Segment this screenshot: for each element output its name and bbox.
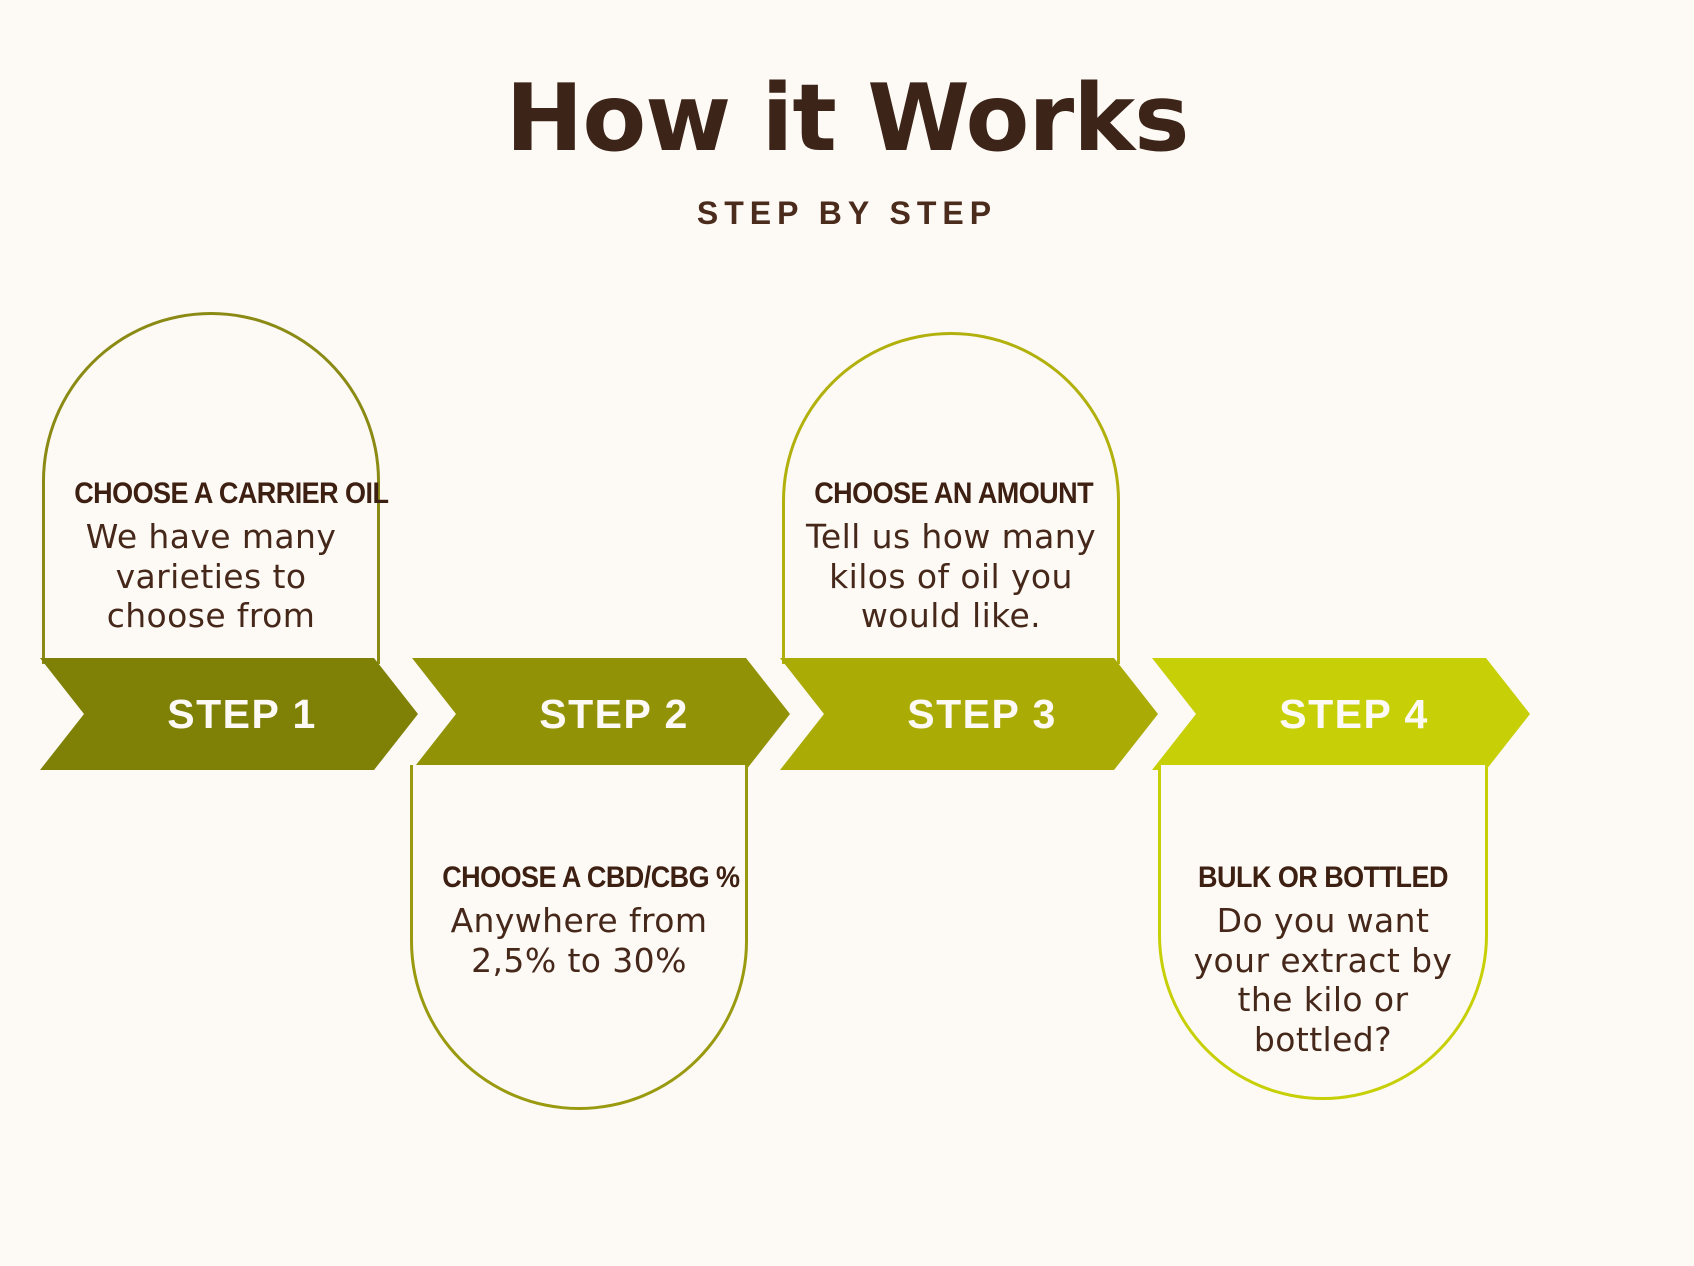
- step-banner-4[interactable]: STEP 4: [1152, 658, 1530, 770]
- step-banner-1[interactable]: STEP 1: [40, 658, 418, 770]
- step-banner-3-label: STEP 3: [907, 691, 1057, 738]
- step-card-1-content: CHOOSE A CARRIER OIL We have many variet…: [45, 477, 377, 636]
- step-card-3-body: Tell us how many kilos of oil you would …: [799, 517, 1103, 636]
- step-card-2: CHOOSE A CBD/CBG % Anywhere from 2,5% to…: [410, 765, 748, 1110]
- infographic-canvas: How it Works STEP BY STEP CHOOSE A CARRI…: [0, 0, 1694, 1266]
- step-banner-1-label: STEP 1: [167, 691, 317, 738]
- step-card-1-body: We have many varieties to choose from: [59, 517, 363, 636]
- step-card-4-content: BULK OR BOTTLED Do you want your extract…: [1161, 861, 1485, 1059]
- step-card-4-heading: BULK OR BOTTLED: [1190, 861, 1456, 895]
- page-subtitle: STEP BY STEP: [0, 195, 1694, 232]
- step-card-3: CHOOSE AN AMOUNT Tell us how many kilos …: [782, 332, 1120, 664]
- step-card-3-content: CHOOSE AN AMOUNT Tell us how many kilos …: [785, 477, 1117, 636]
- step-card-2-heading: CHOOSE A CBD/CBG %: [442, 861, 716, 895]
- step-card-2-content: CHOOSE A CBD/CBG % Anywhere from 2,5% to…: [413, 861, 745, 980]
- step-card-1-heading: CHOOSE A CARRIER OIL: [74, 477, 348, 511]
- step-banner-3[interactable]: STEP 3: [780, 658, 1158, 770]
- step-banner-4-label: STEP 4: [1279, 691, 1429, 738]
- page-title: How it Works: [0, 72, 1694, 165]
- step-card-4-body: Do you want your extract by the kilo or …: [1175, 901, 1471, 1059]
- step-banner-2[interactable]: STEP 2: [412, 658, 790, 770]
- step-card-3-heading: CHOOSE AN AMOUNT: [814, 477, 1088, 511]
- step-card-1: CHOOSE A CARRIER OIL We have many variet…: [42, 312, 380, 664]
- step-card-2-body: Anywhere from 2,5% to 30%: [427, 901, 731, 980]
- step-card-4: BULK OR BOTTLED Do you want your extract…: [1158, 765, 1488, 1100]
- step-banner-2-label: STEP 2: [539, 691, 689, 738]
